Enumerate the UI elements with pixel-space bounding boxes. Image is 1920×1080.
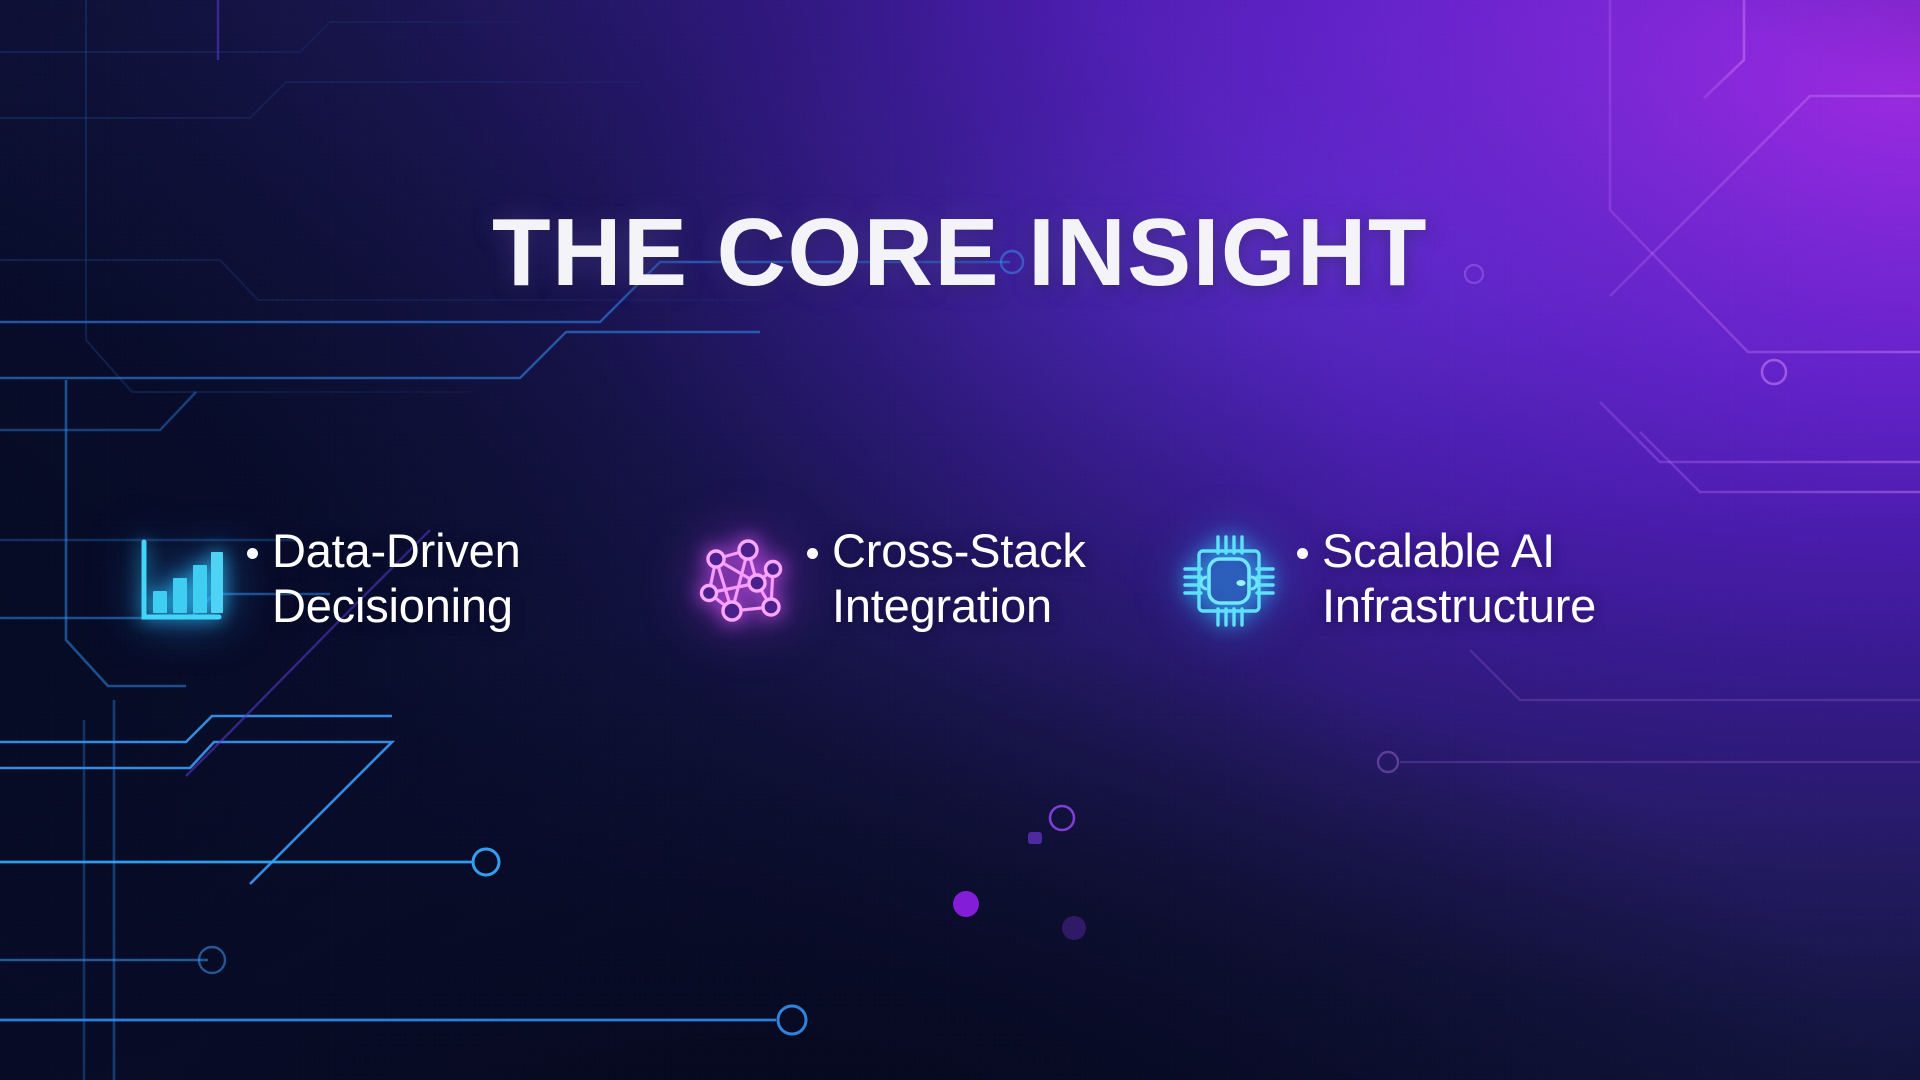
slide-content: THE CORE INSIGHT: [0, 0, 1920, 1080]
slide-canvas: THE CORE INSIGHT: [0, 0, 1920, 1080]
feature-label: Data-Driven Decisioning: [266, 520, 521, 633]
feature-item-cross-stack-integration[interactable]: Cross-Stack Integration: [680, 520, 1170, 640]
bullet-point: [238, 520, 266, 559]
network-graph-icon: [680, 522, 798, 640]
bar-chart-icon: [120, 522, 238, 640]
feature-list: Data-Driven Decisioning: [120, 520, 1820, 640]
feature-label: Cross-Stack Integration: [826, 520, 1086, 633]
bullet-point: [798, 520, 826, 559]
bullet-point: [1288, 520, 1316, 559]
slide-title: THE CORE INSIGHT: [0, 205, 1920, 301]
feature-item-scalable-ai-infrastructure[interactable]: Scalable AI Infrastructure: [1170, 520, 1730, 640]
feature-label: Scalable AI Infrastructure: [1316, 520, 1596, 633]
cpu-chip-icon: [1170, 522, 1288, 640]
feature-item-data-driven-decisioning[interactable]: Data-Driven Decisioning: [120, 520, 680, 640]
